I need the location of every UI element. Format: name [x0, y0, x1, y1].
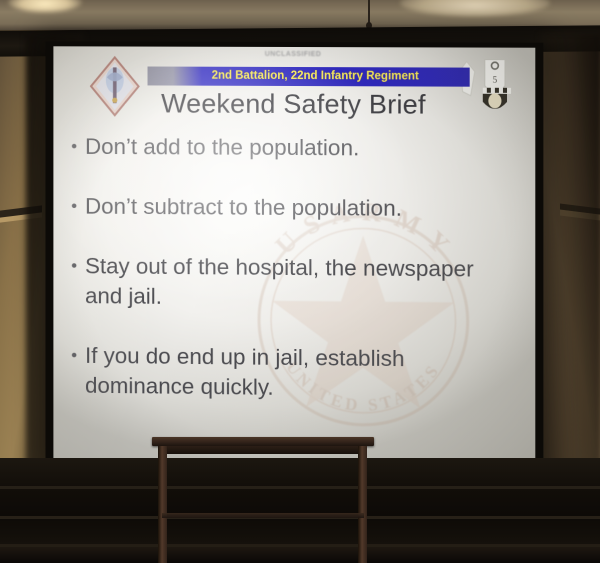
- list-item-label: Don’t subtract to the population.: [85, 192, 489, 225]
- projection-screen: U S A R M Y UNITED STATES UNCLASSIFIED: [45, 41, 543, 477]
- slide-bullet-list: • Don’t add to the population. • Don’t s…: [71, 132, 523, 436]
- table-top: [152, 437, 374, 446]
- list-item: • Stay out of the hospital, the newspape…: [71, 251, 523, 315]
- list-item-label: If you do end up in jail, establish domi…: [85, 341, 489, 405]
- pendant-light-icon: [368, 0, 370, 26]
- projection-screen-surface: U S A R M Y UNITED STATES UNCLASSIFIED: [53, 46, 535, 474]
- briefing-room-photo: U S A R M Y UNITED STATES UNCLASSIFIED: [0, 0, 600, 563]
- list-item: • If you do end up in jail, establish do…: [71, 341, 523, 406]
- list-item-label: Don’t add to the population.: [85, 132, 489, 164]
- svg-text:5: 5: [493, 75, 498, 85]
- table-stretcher: [162, 513, 364, 518]
- table-leg: [358, 446, 367, 563]
- slide-title: Weekend Safety Brief: [53, 88, 535, 121]
- conference-table: [152, 437, 374, 563]
- table-leg: [158, 446, 167, 563]
- bullet-point-icon: •: [71, 192, 85, 222]
- wall-shadow-right: [540, 34, 600, 484]
- list-item-label: Stay out of the hospital, the newspaper …: [85, 251, 489, 314]
- bullet-point-icon: •: [71, 132, 85, 162]
- bullet-point-icon: •: [71, 341, 85, 371]
- powerpoint-slide: UNCLASSIFIED: [53, 46, 535, 474]
- unit-banner-label: 2nd Battalion, 22nd Infantry Regiment: [148, 67, 470, 87]
- list-item: • Don’t subtract to the population.: [71, 192, 523, 225]
- ceiling-light-icon: [8, 0, 82, 12]
- ceiling-light-icon: [400, 0, 550, 16]
- table-apron: [159, 446, 367, 454]
- bullet-point-icon: •: [71, 251, 85, 281]
- list-item: • Don’t add to the population.: [71, 132, 523, 164]
- unit-banner: 2nd Battalion, 22nd Infantry Regiment: [148, 67, 470, 87]
